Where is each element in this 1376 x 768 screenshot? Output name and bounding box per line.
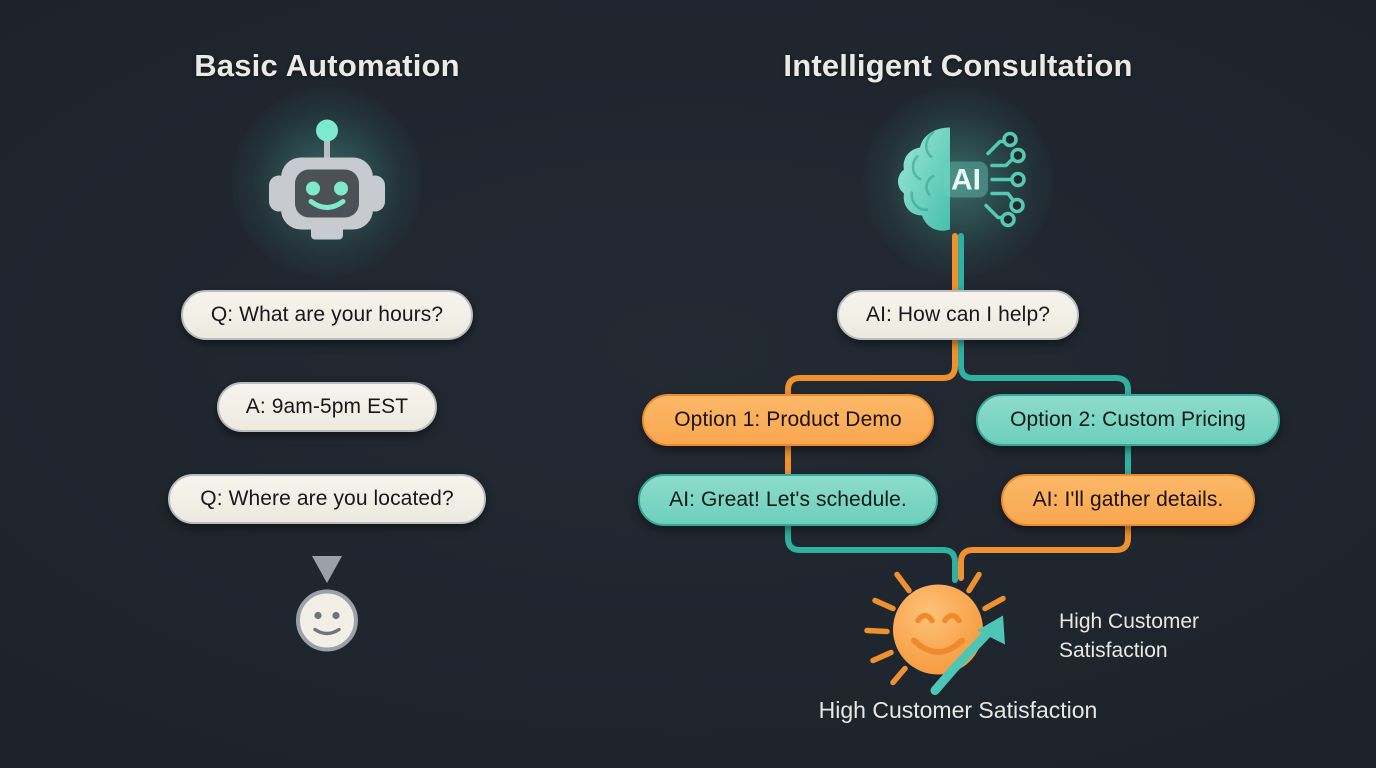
neutral-face-icon xyxy=(294,588,360,659)
wire-root-to-opt2 xyxy=(961,340,1128,394)
chat-bubble-answer-hours[interactable]: A: 9am-5pm EST xyxy=(217,382,437,432)
column-title-intelligent-consultation: Intelligent Consultation xyxy=(783,48,1132,84)
chat-bubble-option-2[interactable]: Option 2: Custom Pricing xyxy=(976,394,1280,446)
chat-bubble-option-1[interactable]: Option 1: Product Demo xyxy=(642,394,934,446)
wire-root-to-opt1 xyxy=(788,340,955,394)
chat-bubble-answer-2[interactable]: AI: I'll gather details. xyxy=(1001,474,1255,526)
column-title-basic-automation: Basic Automation xyxy=(194,48,460,84)
satisfaction-inline-label: High Customer Satisfaction xyxy=(1059,607,1199,665)
satisfaction-caption: High Customer Satisfaction xyxy=(819,697,1098,724)
svg-text:AI: AI xyxy=(951,164,981,197)
chat-bubble-answer-1[interactable]: AI: Great! Let's schedule. xyxy=(638,474,938,526)
robot-icon xyxy=(263,114,391,251)
ai-brain-circuit-icon: AI xyxy=(888,114,1028,251)
diagram-canvas: Basic Automation Intelligent Consultatio… xyxy=(0,0,1376,768)
chat-bubble-question-location[interactable]: Q: Where are you located? xyxy=(168,474,486,524)
chat-bubble-ai-greeting[interactable]: AI: How can I help? xyxy=(837,290,1079,340)
chat-bubble-question-hours[interactable]: Q: What are your hours? xyxy=(181,290,473,340)
arrowhead-down-icon xyxy=(312,556,342,583)
happy-face-icon xyxy=(857,553,1057,708)
